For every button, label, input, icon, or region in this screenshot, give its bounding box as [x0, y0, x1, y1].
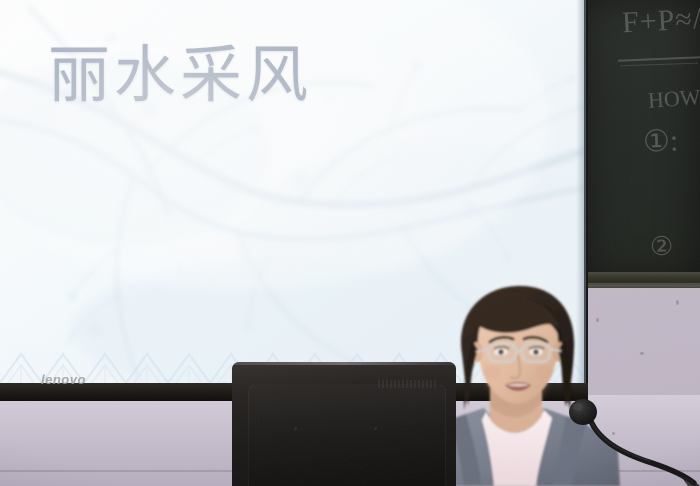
classroom-presentation-photo: F+P≈// HOW ①: ②	[0, 0, 700, 486]
monitor-vent-slots	[378, 380, 438, 388]
chalk-line-1: F+P≈//	[621, 2, 700, 41]
monitor-top-highlight	[232, 362, 456, 365]
monitor-screw	[374, 427, 377, 430]
monitor-rear-panel	[248, 384, 446, 486]
slide-title: 丽水采风	[48, 24, 312, 114]
lenovo-logo: lenovo	[41, 372, 86, 387]
mic-gooseneck	[589, 416, 694, 483]
wall-mark	[676, 300, 679, 305]
chalk-line-2: HOW	[647, 84, 700, 114]
chalk-line-3: ①:	[642, 123, 678, 159]
chalk-line-4: ②	[649, 232, 673, 263]
blackboard	[583, 0, 700, 282]
wall-mark	[640, 352, 644, 355]
monitor-screw	[294, 427, 297, 430]
mic-capsule	[569, 399, 597, 425]
gooseneck-microphone	[560, 395, 700, 486]
